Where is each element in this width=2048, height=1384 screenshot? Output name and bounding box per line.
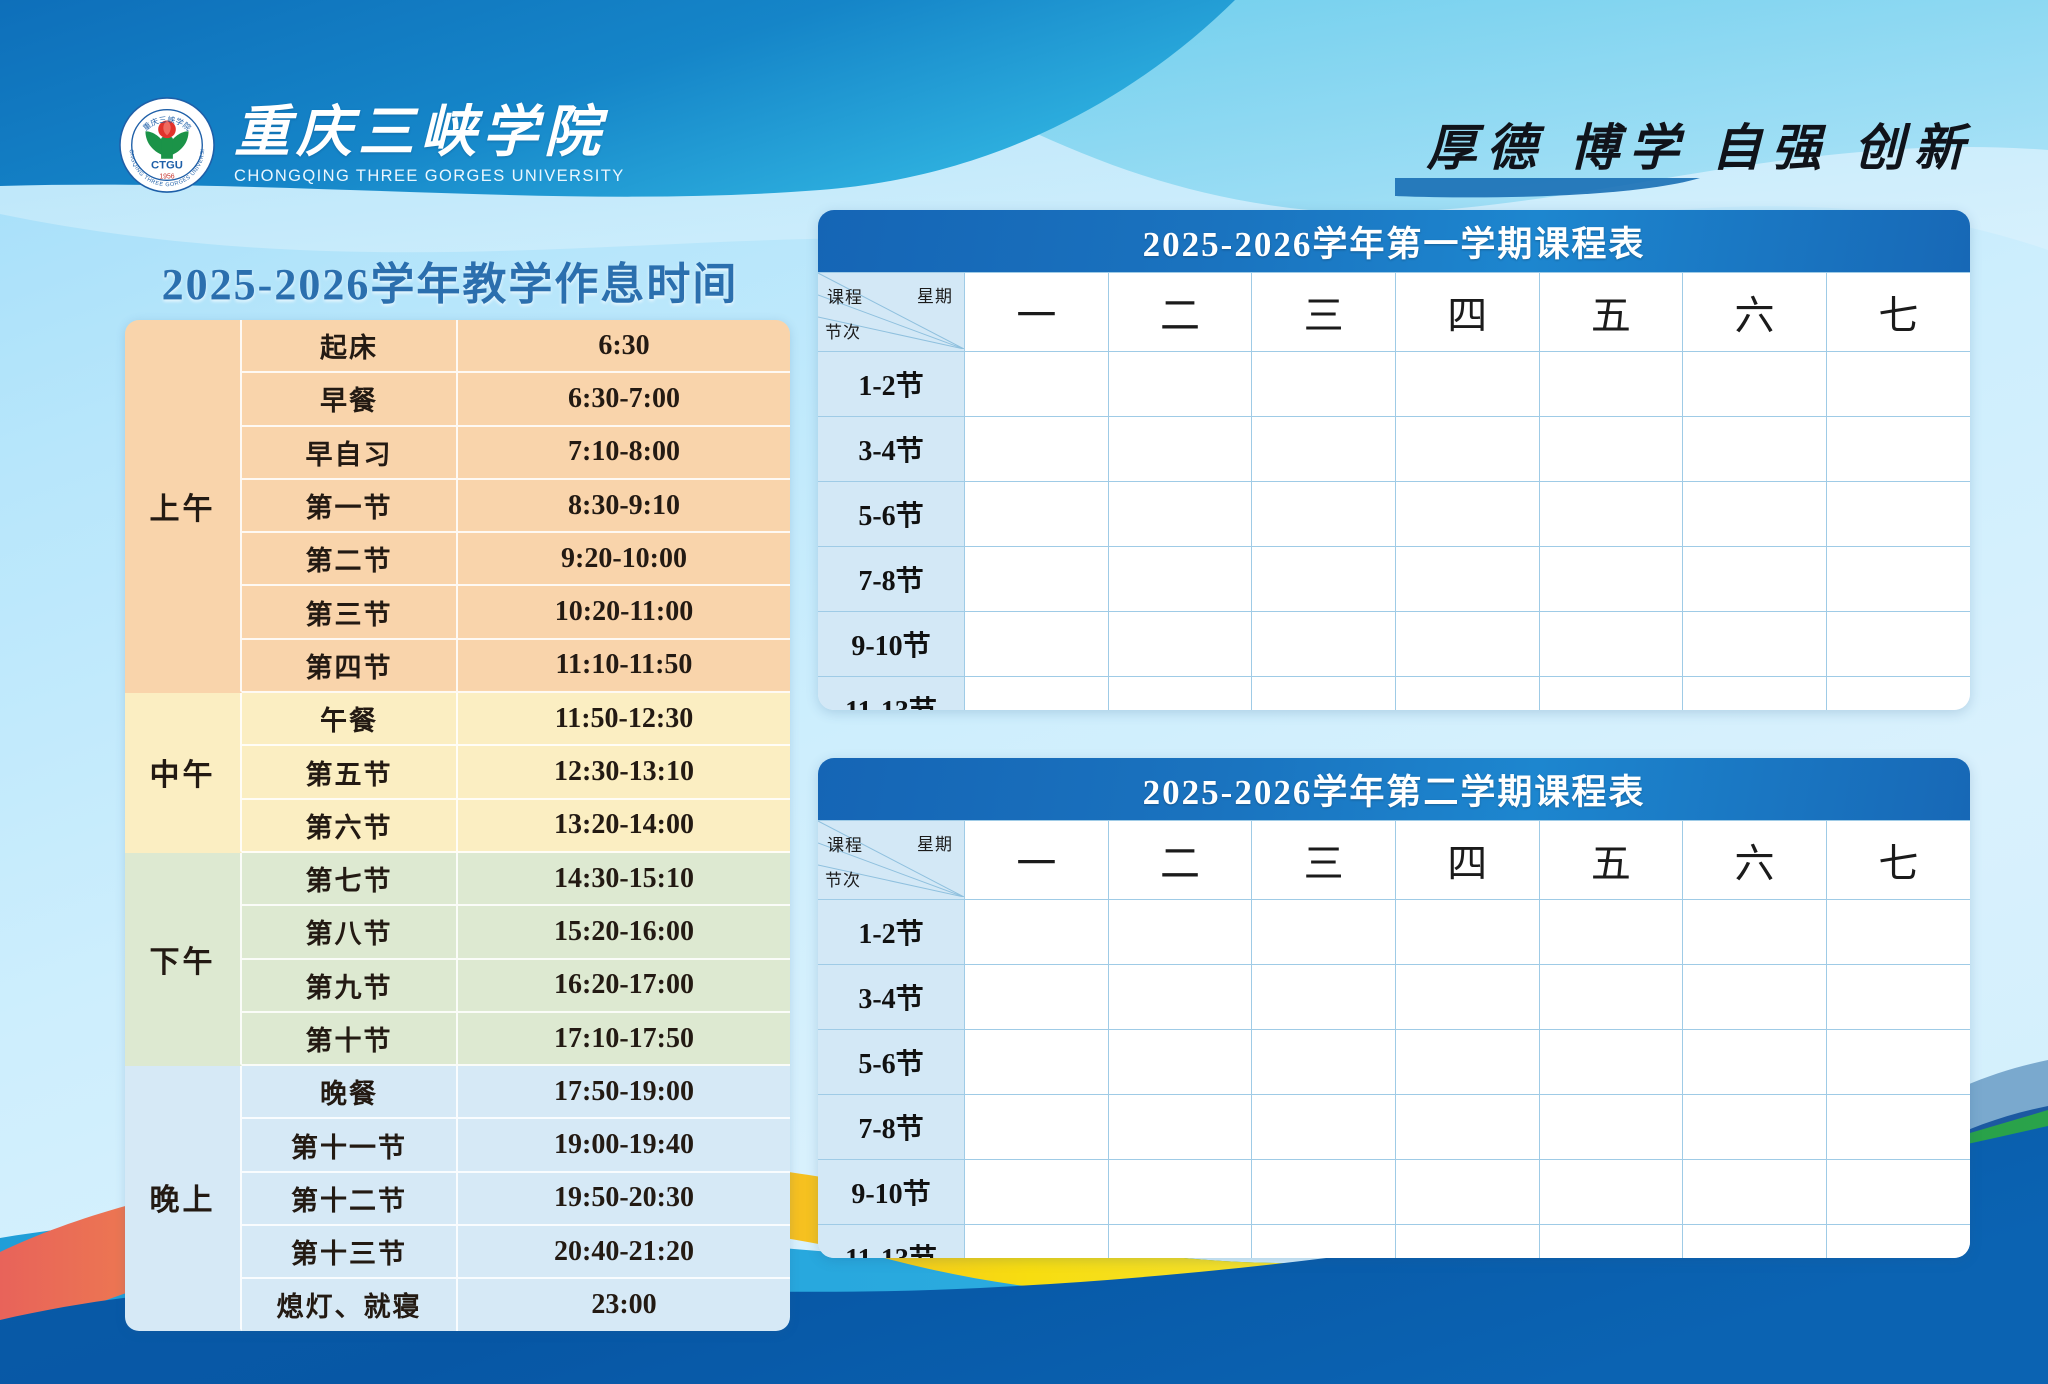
course-day-header: 二 [1108, 821, 1252, 900]
course-cell[interactable] [1683, 677, 1827, 711]
course-day-header: 一 [965, 821, 1109, 900]
course-cell[interactable] [1252, 417, 1396, 482]
course-day-header: 七 [1826, 821, 1970, 900]
course-cell[interactable] [1539, 1160, 1683, 1225]
course-cell[interactable] [1108, 547, 1252, 612]
course-cell[interactable] [1539, 1095, 1683, 1160]
course-cell[interactable] [1252, 965, 1396, 1030]
rest-activity-time: 8:30-9:10 [458, 480, 790, 533]
course-period-label: 7-8节 [818, 1095, 965, 1160]
rest-activity-time: 11:50-12:30 [458, 693, 790, 746]
rest-activity-name: 早餐 [242, 373, 458, 426]
course-cell[interactable] [965, 965, 1109, 1030]
course-cell[interactable] [1539, 1225, 1683, 1259]
course-cell[interactable] [1539, 482, 1683, 547]
course-cell[interactable] [1252, 482, 1396, 547]
course-day-header: 二 [1108, 273, 1252, 352]
course-cell[interactable] [1108, 1095, 1252, 1160]
rest-activity-time: 17:10-17:50 [458, 1013, 790, 1066]
rest-period-label: 上午 [125, 320, 242, 693]
course-cell[interactable] [1252, 1030, 1396, 1095]
course-cell[interactable] [1683, 547, 1827, 612]
course-cell[interactable] [1395, 482, 1539, 547]
course-table-panel-semester1: 2025-2026学年第一学期课程表 课程星期节次一二三四五六七1-2节3-4节… [818, 210, 1970, 710]
course-cell[interactable] [965, 1095, 1109, 1160]
course-row: 1-2节 [818, 352, 1970, 417]
course-period-label: 11-13节 [818, 1225, 965, 1259]
course-cell[interactable] [1395, 900, 1539, 965]
course-period-label: 1-2节 [818, 352, 965, 417]
rest-activity-time: 12:30-13:10 [458, 746, 790, 799]
course-row: 3-4节 [818, 417, 1970, 482]
course-row: 5-6节 [818, 1030, 1970, 1095]
rest-row: 晚上晚餐17:50-19:00 [125, 1066, 790, 1119]
course-cell[interactable] [1252, 1095, 1396, 1160]
course-cell[interactable] [1683, 482, 1827, 547]
course-period-label: 5-6节 [818, 1030, 965, 1095]
course-period-label: 1-2节 [818, 900, 965, 965]
course-cell[interactable] [1395, 547, 1539, 612]
course-cell[interactable] [1108, 900, 1252, 965]
university-logo-icon: 重庆三峡学院 CTGU 1956 CHONGQING THREE GORGES … [118, 96, 216, 194]
rest-activity-time: 19:00-19:40 [458, 1119, 790, 1172]
course-cell[interactable] [1826, 482, 1970, 547]
course-day-header: 五 [1539, 821, 1683, 900]
rest-activity-time: 16:20-17:00 [458, 960, 790, 1013]
course-day-header: 六 [1683, 273, 1827, 352]
rest-activity-time: 23:00 [458, 1279, 790, 1330]
course-row: 11-13节 [818, 1225, 1970, 1259]
course-cell[interactable] [1826, 547, 1970, 612]
rest-row: 中午午餐11:50-12:30 [125, 693, 790, 746]
rest-activity-name: 第十节 [242, 1013, 458, 1066]
course-cell[interactable] [1252, 547, 1396, 612]
course-row: 9-10节 [818, 612, 1970, 677]
rest-activity-name: 第十三节 [242, 1226, 458, 1279]
rest-activity-name: 第七节 [242, 853, 458, 906]
rest-activity-name: 晚餐 [242, 1066, 458, 1119]
course-cell[interactable] [965, 482, 1109, 547]
course-cell[interactable] [1395, 352, 1539, 417]
course-cell[interactable] [1395, 1095, 1539, 1160]
course-cell[interactable] [1395, 1160, 1539, 1225]
course-cell[interactable] [1539, 612, 1683, 677]
course-cell[interactable] [1108, 612, 1252, 677]
course-period-label: 3-4节 [818, 965, 965, 1030]
rest-activity-name: 第一节 [242, 480, 458, 533]
course-grid-body-semester1: 课程星期节次一二三四五六七1-2节3-4节5-6节7-8节9-10节11-13节 [818, 273, 1970, 711]
rest-activity-time: 6:30-7:00 [458, 373, 790, 426]
rest-activity-name: 第十一节 [242, 1119, 458, 1172]
course-cell[interactable] [1108, 482, 1252, 547]
rest-activity-time: 7:10-8:00 [458, 427, 790, 480]
logo-abbr-text: CTGU [151, 160, 183, 172]
rest-activity-name: 第四节 [242, 640, 458, 693]
course-cell[interactable] [1108, 417, 1252, 482]
rest-activity-time: 10:20-11:00 [458, 586, 790, 639]
university-brand: 重庆三峡学院 CTGU 1956 CHONGQING THREE GORGES … [118, 96, 625, 194]
course-day-header: 七 [1826, 273, 1970, 352]
rest-activity-name: 第十二节 [242, 1173, 458, 1226]
course-day-header: 六 [1683, 821, 1827, 900]
rest-activity-name: 第八节 [242, 906, 458, 959]
rest-schedule-table: 上午起床6:30早餐6:30-7:00早自习7:10-8:00第一节8:30-9… [125, 320, 790, 1331]
course-table-title-semester2: 2025-2026学年第二学期课程表 [1143, 764, 1646, 815]
university-motto: 厚德 博学 自强 创新 [1427, 108, 1975, 180]
rest-period-label: 下午 [125, 853, 242, 1066]
course-cell[interactable] [1252, 677, 1396, 711]
corner-label-weekday: 星期 [917, 282, 953, 307]
course-grid-body-semester2: 课程星期节次一二三四五六七1-2节3-4节5-6节7-8节9-10节11-13节 [818, 821, 1970, 1259]
course-period-label: 7-8节 [818, 547, 965, 612]
rest-row: 下午第七节14:30-15:10 [125, 853, 790, 906]
course-cell[interactable] [1108, 965, 1252, 1030]
course-cell[interactable] [1683, 1095, 1827, 1160]
rest-activity-name: 早自习 [242, 427, 458, 480]
rest-activity-time: 19:50-20:30 [458, 1173, 790, 1226]
course-cell[interactable] [1395, 1225, 1539, 1259]
course-cell[interactable] [1539, 900, 1683, 965]
course-cell[interactable] [1252, 900, 1396, 965]
rest-activity-name: 第六节 [242, 800, 458, 853]
corner-label-period: 节次 [825, 318, 861, 343]
course-cell[interactable] [1826, 677, 1970, 711]
course-cell[interactable] [1826, 1160, 1970, 1225]
university-name-cn: 重庆三峡学院 [234, 104, 625, 163]
rest-activity-time: 15:20-16:00 [458, 906, 790, 959]
course-cell[interactable] [1108, 1225, 1252, 1259]
rest-activity-time: 11:10-11:50 [458, 640, 790, 693]
course-row: 9-10节 [818, 1160, 1970, 1225]
course-cell[interactable] [1108, 677, 1252, 711]
rest-activity-time: 9:20-10:00 [458, 533, 790, 586]
course-row: 5-6节 [818, 482, 1970, 547]
course-day-header: 四 [1395, 821, 1539, 900]
course-cell[interactable] [965, 352, 1109, 417]
course-cell[interactable] [1252, 1225, 1396, 1259]
course-cell[interactable] [1252, 1160, 1396, 1225]
course-cell[interactable] [1826, 1095, 1970, 1160]
rest-activity-time: 6:30 [458, 320, 790, 373]
course-row: 1-2节 [818, 900, 1970, 965]
course-period-label: 9-10节 [818, 612, 965, 677]
course-row: 3-4节 [818, 965, 1970, 1030]
course-cell[interactable] [1108, 1160, 1252, 1225]
course-cell[interactable] [1683, 1225, 1827, 1259]
course-cell[interactable] [1826, 965, 1970, 1030]
course-cell[interactable] [1683, 900, 1827, 965]
course-cell[interactable] [1826, 417, 1970, 482]
course-table-title-semester1: 2025-2026学年第一学期课程表 [1143, 216, 1646, 267]
course-cell[interactable] [1826, 1030, 1970, 1095]
course-grid-semester2: 课程星期节次一二三四五六七1-2节3-4节5-6节7-8节9-10节11-13节 [818, 820, 1970, 1258]
course-day-header: 四 [1395, 273, 1539, 352]
course-day-header: 一 [965, 273, 1109, 352]
course-cell[interactable] [965, 547, 1109, 612]
course-cell[interactable] [965, 612, 1109, 677]
course-cell[interactable] [965, 1225, 1109, 1259]
rest-activity-time: 13:20-14:00 [458, 800, 790, 853]
rest-activity-name: 第二节 [242, 533, 458, 586]
course-corner-cell: 课程星期节次 [818, 821, 965, 900]
course-cell[interactable] [1826, 612, 1970, 677]
course-cell[interactable] [1539, 352, 1683, 417]
course-head-row: 课程星期节次一二三四五六七 [818, 821, 1970, 900]
corner-label-course: 课程 [827, 831, 863, 856]
rest-row: 上午起床6:30 [125, 320, 790, 373]
course-cell[interactable] [1395, 965, 1539, 1030]
course-cell[interactable] [1683, 417, 1827, 482]
course-cell[interactable] [1826, 1225, 1970, 1259]
brand-text-block: 重庆三峡学院 CHONGQING THREE GORGES UNIVERSITY [234, 104, 625, 186]
course-row: 7-8节 [818, 547, 1970, 612]
rest-period-label: 中午 [125, 693, 242, 853]
course-cell[interactable] [1539, 965, 1683, 1030]
course-cell[interactable] [1108, 352, 1252, 417]
course-cell[interactable] [965, 1160, 1109, 1225]
course-day-header: 三 [1252, 273, 1396, 352]
course-cell[interactable] [965, 417, 1109, 482]
course-cell[interactable] [1683, 1160, 1827, 1225]
rest-activity-time: 20:40-21:20 [458, 1226, 790, 1279]
course-cell[interactable] [1826, 352, 1970, 417]
course-table-panel-semester2: 2025-2026学年第二学期课程表 课程星期节次一二三四五六七1-2节3-4节… [818, 758, 1970, 1258]
poster-header: 重庆三峡学院 CTGU 1956 CHONGQING THREE GORGES … [0, 0, 2048, 200]
course-grid-semester1: 课程星期节次一二三四五六七1-2节3-4节5-6节7-8节9-10节11-13节 [818, 272, 1970, 710]
course-period-label: 3-4节 [818, 417, 965, 482]
course-row: 7-8节 [818, 1095, 1970, 1160]
course-cell[interactable] [965, 900, 1109, 965]
course-cell[interactable] [1683, 352, 1827, 417]
poster-root: 重庆三峡学院 CTGU 1956 CHONGQING THREE GORGES … [0, 0, 2048, 1384]
course-cell[interactable] [1539, 1030, 1683, 1095]
rest-activity-name: 起床 [242, 320, 458, 373]
course-day-header: 三 [1252, 821, 1396, 900]
course-cell[interactable] [1108, 1030, 1252, 1095]
rest-schedule-body: 上午起床6:30早餐6:30-7:00早自习7:10-8:00第一节8:30-9… [125, 320, 790, 1331]
university-name-en: CHONGQING THREE GORGES UNIVERSITY [234, 167, 625, 186]
course-head-row: 课程星期节次一二三四五六七 [818, 273, 1970, 352]
course-cell[interactable] [1395, 612, 1539, 677]
course-period-label: 5-6节 [818, 482, 965, 547]
corner-label-course: 课程 [827, 283, 863, 308]
rest-period-label: 晚上 [125, 1066, 242, 1330]
rest-activity-name: 第五节 [242, 746, 458, 799]
course-cell[interactable] [1395, 1030, 1539, 1095]
course-cell[interactable] [1683, 1030, 1827, 1095]
corner-label-weekday: 星期 [917, 830, 953, 855]
course-cell[interactable] [1539, 547, 1683, 612]
course-cell[interactable] [1539, 677, 1683, 711]
course-corner-cell: 课程星期节次 [818, 273, 965, 352]
course-cell[interactable] [1683, 612, 1827, 677]
course-cell[interactable] [1395, 677, 1539, 711]
course-cell[interactable] [1683, 965, 1827, 1030]
course-cell[interactable] [1252, 612, 1396, 677]
rest-activity-time: 14:30-15:10 [458, 853, 790, 906]
course-table-header-semester2: 2025-2026学年第二学期课程表 [818, 758, 1970, 820]
course-cell[interactable] [965, 677, 1109, 711]
course-cell[interactable] [1252, 352, 1396, 417]
rest-activity-name: 第九节 [242, 960, 458, 1013]
corner-label-period: 节次 [825, 866, 861, 891]
logo-year-text: 1956 [159, 173, 174, 180]
course-table-header-semester1: 2025-2026学年第一学期课程表 [818, 210, 1970, 272]
rest-activity-time: 17:50-19:00 [458, 1066, 790, 1119]
course-row: 11-13节 [818, 677, 1970, 711]
course-cell[interactable] [1395, 417, 1539, 482]
rest-activity-name: 午餐 [242, 693, 458, 746]
rest-activity-name: 第三节 [242, 586, 458, 639]
course-cell[interactable] [1539, 417, 1683, 482]
rest-activity-name: 熄灯、就寝 [242, 1279, 458, 1330]
course-period-label: 11-13节 [818, 677, 965, 711]
course-cell[interactable] [1826, 900, 1970, 965]
course-cell[interactable] [965, 1030, 1109, 1095]
course-period-label: 9-10节 [818, 1160, 965, 1225]
course-day-header: 五 [1539, 273, 1683, 352]
